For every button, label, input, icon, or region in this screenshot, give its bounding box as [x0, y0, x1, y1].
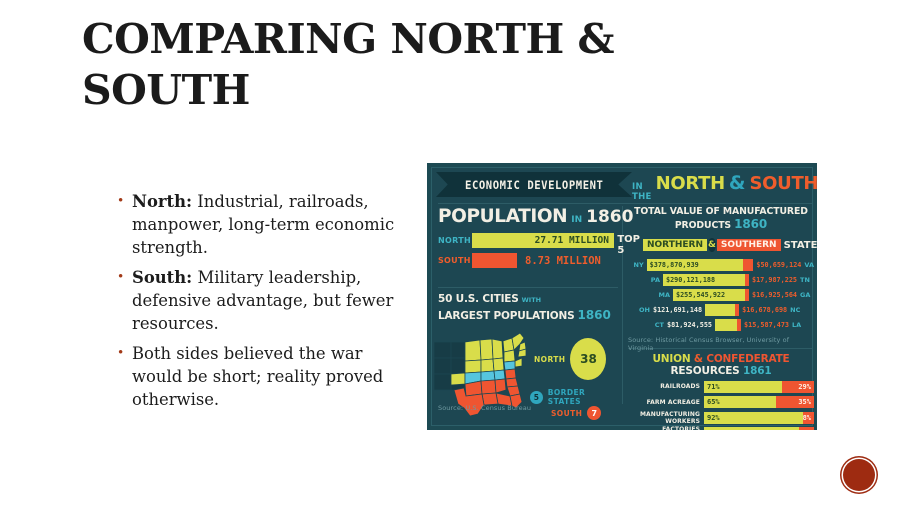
- state-bar-north: [705, 304, 735, 316]
- state-value-north: $378,870,939: [647, 261, 699, 269]
- resource-confederate-value: 18: [803, 429, 814, 430]
- list-item-text: Both sides believed the war would be sho…: [132, 342, 408, 411]
- resource-union-value: 92%: [704, 414, 720, 422]
- resource-bar: 65% 35%: [704, 396, 814, 408]
- cities-with-word: WITH: [522, 296, 541, 304]
- legend-south: SOUTH 7: [551, 406, 601, 420]
- bullet-list: • North: Industrial, railroads, manpower…: [118, 190, 408, 418]
- state-value-north: $121,691,148: [653, 306, 705, 314]
- state-bar-north: $290,121,188: [663, 274, 745, 286]
- legend-border-count: 5: [530, 391, 543, 404]
- state-value-south: $16,678,698: [739, 306, 787, 314]
- list-item-lead: South:: [132, 268, 192, 287]
- population-south-bar: [472, 253, 517, 268]
- table-row: OH $121,691,148 $16,678,698 NC: [628, 304, 814, 316]
- resource-union-value: 65%: [704, 398, 720, 406]
- cities-section: 50 U.S. CITIES WITH LARGEST POPULATIONS …: [438, 293, 620, 421]
- bullet-dot-icon: •: [118, 266, 132, 289]
- manufactured-title: TOTAL VALUE OF MANUFACTURED PRODUCTS: [634, 206, 808, 231]
- manufactured-subheading: TOP 5 NORTHERN & SOUTHERN STATES: [628, 234, 814, 256]
- divider-under-header: [438, 203, 812, 204]
- list-item-text: South: Military leadership, defensive ad…: [132, 266, 408, 335]
- state-abbr-south: GA: [797, 291, 810, 299]
- list-item: • Both sides believed the war would be s…: [118, 342, 408, 411]
- legend-border-states: 5 BORDER STATES: [530, 388, 620, 406]
- resource-label: RAILROADS: [628, 383, 704, 390]
- state-abbr-north: OH: [628, 306, 653, 314]
- population-heading: POPULATION IN 1860: [438, 206, 616, 227]
- resource-confederate-bar: 35%: [776, 396, 815, 408]
- population-row-north: NORTH 27.71 MILLION: [438, 233, 616, 248]
- legend-north-count: 38: [570, 338, 606, 380]
- list-item-body: Both sides believed the war would be sho…: [132, 344, 383, 409]
- resources-ampersand: &: [694, 353, 703, 365]
- manufactured-top5: TOP 5: [617, 234, 640, 256]
- divider-population-cities: [438, 287, 618, 288]
- resources-confederate-word: CONFEDERATE: [706, 353, 789, 365]
- infographic-inner-frame: ECONOMIC DEVELOPMENT IN THE NORTH & SOUT…: [431, 167, 813, 426]
- cities-heading: 50 U.S. CITIES WITH LARGEST POPULATIONS …: [438, 293, 620, 322]
- list-item-text: North: Industrial, railroads, manpower, …: [132, 190, 408, 259]
- manufactured-northern-chip: NORTHERN: [643, 239, 707, 251]
- banner-ribbon: ECONOMIC DEVELOPMENT: [436, 172, 632, 197]
- state-value-north: $81,924,555: [667, 321, 715, 329]
- state-abbr-south: VA: [801, 261, 814, 269]
- state-value-south: $15,587,473: [741, 321, 789, 329]
- resource-label: MANUFACTURING WORKERS: [628, 411, 704, 425]
- table-row: FACTORIES (THOUSANDS) 110 18: [628, 427, 814, 430]
- banner-south: SOUTH: [749, 173, 817, 194]
- resources-union-word: UNION: [652, 353, 690, 365]
- legend-north-label: NORTH: [534, 355, 565, 364]
- state-abbr-north: MA: [628, 291, 673, 299]
- economic-development-infographic: ECONOMIC DEVELOPMENT IN THE NORTH & SOUT…: [427, 163, 817, 430]
- state-abbr-south: LA: [789, 321, 801, 329]
- population-north-label: NORTH: [438, 236, 472, 245]
- state-value-south: $17,987,225: [749, 276, 797, 284]
- population-north-bar: 27.71 MILLION: [472, 233, 614, 248]
- state-value-south: $50,659,124: [753, 261, 801, 269]
- table-row: FARM ACREAGE 65% 35%: [628, 396, 814, 408]
- resources-section: UNION & CONFEDERATE RESOURCES 1861 RAILR…: [628, 353, 814, 430]
- state-bar-north: [715, 319, 737, 331]
- resources-heading: UNION & CONFEDERATE RESOURCES 1861: [628, 353, 814, 377]
- list-item: • North: Industrial, railroads, manpower…: [118, 190, 408, 259]
- resource-bar: 92% 8%: [704, 412, 814, 424]
- manufactured-year: 1860: [734, 217, 767, 231]
- resource-confederate-bar: 18: [799, 427, 814, 430]
- resource-bar: 110 18: [704, 427, 814, 430]
- population-south-value: 8.73 MILLION: [517, 255, 601, 267]
- list-item-lead: North:: [132, 192, 192, 211]
- manufactured-heading: TOTAL VALUE OF MANUFACTURED PRODUCTS 186…: [628, 206, 814, 231]
- state-abbr-south: TN: [797, 276, 810, 284]
- table-row: RAILROADS 71% 29%: [628, 381, 814, 393]
- resource-bar: 71% 29%: [704, 381, 814, 393]
- resource-union-bar: 110: [704, 427, 799, 430]
- banner-title: ECONOMIC DEVELOPMENT: [465, 178, 603, 192]
- population-section: POPULATION IN 1860 NORTH 27.71 MILLION S…: [438, 206, 616, 273]
- population-in-word: IN: [571, 215, 582, 225]
- infographic-header: ECONOMIC DEVELOPMENT IN THE NORTH & SOUT…: [432, 168, 812, 201]
- banner-ampersand: &: [729, 172, 746, 194]
- resource-confederate-value: 8%: [803, 414, 814, 422]
- cities-year: 1860: [577, 308, 610, 322]
- table-row: MANUFACTURING WORKERS 92% 8%: [628, 412, 814, 424]
- legend-border-label: BORDER STATES: [548, 388, 620, 406]
- state-value-north: $290,121,188: [663, 276, 715, 284]
- resource-union-bar: 92%: [704, 412, 803, 424]
- table-row: NY $378,870,939 $50,659,124 VA: [628, 259, 814, 271]
- resource-confederate-bar: 8%: [803, 412, 814, 424]
- population-year: 1860: [586, 207, 633, 227]
- banner-subtitle: IN THE NORTH & SOUTH: [632, 172, 817, 197]
- bullet-dot-icon: •: [118, 342, 132, 365]
- page-title: Comparing North & South: [82, 14, 722, 117]
- state-abbr-north: NY: [628, 261, 647, 269]
- resource-union-bar: 71%: [704, 381, 782, 393]
- state-abbr-south: NC: [787, 306, 800, 314]
- legend-south-label: SOUTH: [551, 409, 582, 418]
- state-abbr-north: CT: [628, 321, 667, 329]
- banner-north: NORTH: [656, 173, 725, 194]
- resource-confederate-value: 29%: [798, 383, 814, 391]
- banner-in-the: IN THE: [632, 182, 652, 202]
- table-row: MA $255,545,922 $16,925,564 GA: [628, 289, 814, 301]
- decorative-circle: [843, 459, 875, 491]
- resource-union-value: 71%: [704, 383, 720, 391]
- state-value-north: $255,545,922: [673, 291, 725, 299]
- cities-title-part1: 50 U.S. CITIES: [438, 293, 519, 305]
- legend-north: NORTH 38: [534, 338, 606, 380]
- resource-confederate-value: 35%: [798, 398, 814, 406]
- manufactured-southern-chip: SOUTHERN: [717, 239, 781, 251]
- population-south-label: SOUTH: [438, 256, 472, 265]
- state-bar-south: [743, 259, 754, 271]
- population-title: POPULATION: [438, 206, 567, 227]
- population-row-south: SOUTH 8.73 MILLION: [438, 253, 616, 268]
- manufactured-products-section: TOTAL VALUE OF MANUFACTURED PRODUCTS 186…: [628, 206, 814, 352]
- manufactured-source-note: Source: Historical Census Browser, Unive…: [628, 336, 814, 352]
- cities-source-note: Source: U.S. Census Bureau: [438, 404, 531, 412]
- resource-union-value: 110: [704, 429, 720, 430]
- resource-label: FACTORIES (THOUSANDS): [628, 426, 704, 430]
- list-item: • South: Military leadership, defensive …: [118, 266, 408, 335]
- state-value-south: $16,925,564: [749, 291, 797, 299]
- resources-year: 1861: [743, 365, 771, 377]
- manufactured-ampersand: &: [708, 238, 716, 252]
- state-bar-north: $255,545,922: [673, 289, 745, 301]
- bullet-dot-icon: •: [118, 190, 132, 213]
- state-bar-north: $378,870,939: [647, 259, 743, 271]
- table-row: PA $290,121,188 $17,987,225 TN: [628, 274, 814, 286]
- resources-word: RESOURCES: [671, 365, 740, 377]
- resource-union-bar: 65%: [704, 396, 776, 408]
- legend-south-count: 7: [587, 406, 601, 420]
- manufactured-states-word: STATES: [784, 240, 817, 251]
- resource-label: FARM ACREAGE: [628, 399, 704, 406]
- table-row: CT $81,924,555 $15,587,473 LA: [628, 319, 814, 331]
- state-abbr-north: PA: [628, 276, 663, 284]
- resource-confederate-bar: 29%: [782, 381, 814, 393]
- cities-title-part2: LARGEST POPULATIONS: [438, 310, 574, 322]
- population-north-value: 27.71 MILLION: [535, 235, 614, 246]
